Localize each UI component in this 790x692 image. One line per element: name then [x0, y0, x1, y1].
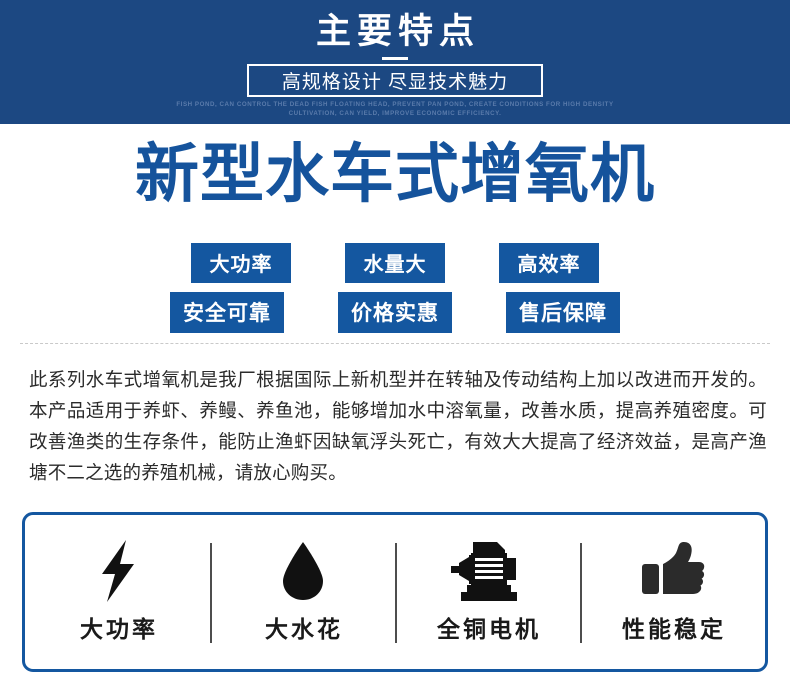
feature-cell-high-power: 大功率 [25, 515, 210, 669]
feature-highlight-card: 大功率 大水花 [22, 512, 768, 672]
title-underline-dash [382, 57, 408, 60]
lightning-bolt-icon [96, 540, 140, 602]
tag-after-sales[interactable]: 售后保障 [506, 292, 620, 333]
feature-cell-stable-performance: 性能稳定 [580, 515, 765, 669]
feature-cell-big-splash: 大水花 [210, 515, 395, 669]
product-name-heading: 新型水车式增氧机 [0, 136, 790, 212]
tag-large-water[interactable]: 水量大 [345, 243, 445, 283]
tag-safe-reliable[interactable]: 安全可靠 [170, 292, 284, 333]
english-caption: FISH POND, CAN CONTROL THE DEAD FISH FLO… [175, 100, 615, 118]
tag-row-1: 大功率 水量大 高效率 [191, 243, 599, 283]
feature-label-big-splash: 大水花 [262, 610, 343, 644]
tag-good-price[interactable]: 价格实惠 [338, 292, 452, 333]
water-droplet-icon [280, 540, 326, 602]
tag-row-2: 安全可靠 价格实惠 售后保障 [170, 292, 620, 333]
feature-label-stable-performance: 性能稳定 [619, 610, 726, 644]
product-description: 此系列水车式增氧机是我厂根据国际上新机型并在转轴及传动结构上加以改进而开发的。本… [29, 364, 767, 488]
feature-tag-grid: 大功率 水量大 高效率 安全可靠 价格实惠 售后保障 [0, 243, 790, 333]
electric-motor-icon [451, 540, 525, 602]
tag-high-efficiency[interactable]: 高效率 [499, 243, 599, 283]
header-banner: 主要特点 高规格设计 尽显技术魅力 FISH POND, CAN CONTROL… [0, 0, 790, 124]
page-title: 主要特点 [0, 11, 790, 53]
feature-label-copper-motor: 全铜电机 [434, 610, 541, 644]
thumbs-up-icon [641, 540, 705, 602]
section-divider [20, 343, 770, 344]
tag-high-power[interactable]: 大功率 [191, 243, 291, 283]
subtitle-box: 高规格设计 尽显技术魅力 [247, 64, 543, 97]
feature-label-high-power: 大功率 [77, 610, 158, 644]
feature-cell-copper-motor: 全铜电机 [395, 515, 580, 669]
subtitle-text: 高规格设计 尽显技术魅力 [282, 67, 508, 94]
